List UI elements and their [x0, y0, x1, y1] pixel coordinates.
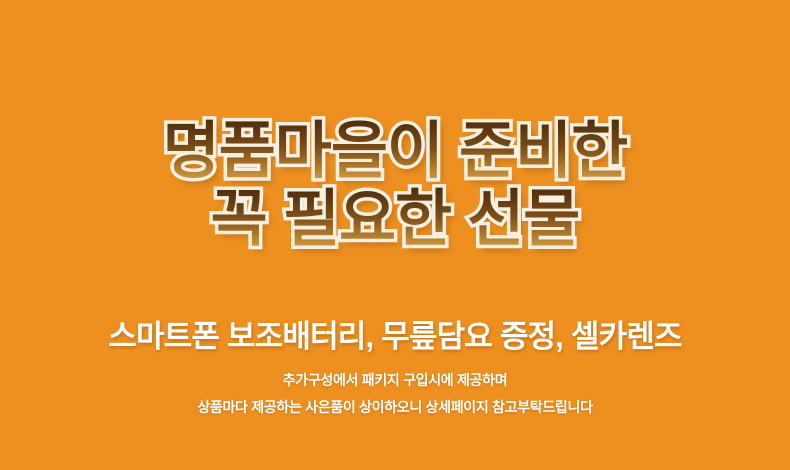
headline-block: 명품마을이 준비한 명품마을이 준비한 명품마을이 준비한 꼭 필요한 선물 꼭…	[0, 118, 790, 254]
fineprint-line-1: 추가구성에서 패키지 구입시에 제공하며	[0, 372, 790, 388]
headline-line-1: 명품마을이 준비한 명품마을이 준비한 명품마을이 준비한	[0, 118, 790, 186]
promo-banner: 명품마을이 준비한 명품마을이 준비한 명품마을이 준비한 꼭 필요한 선물 꼭…	[0, 0, 790, 470]
headline-line-2: 꼭 필요한 선물 꼭 필요한 선물 꼭 필요한 선물	[0, 186, 790, 254]
fineprint-block: 추가구성에서 패키지 구입시에 제공하며 상품마다 제공하는 사은품이 상이하오…	[0, 372, 790, 415]
subheading-text: 스마트폰 보조배터리, 무릎담요 증정, 셀카렌즈	[0, 318, 790, 356]
headline-line-1-text: 명품마을이 준비한	[163, 117, 628, 186]
fineprint-line-2: 상품마다 제공하는 사은품이 상이하오니 상세페이지 참고부탁드립니다	[0, 399, 790, 415]
headline-line-2-text: 꼭 필요한 선물	[211, 185, 580, 254]
